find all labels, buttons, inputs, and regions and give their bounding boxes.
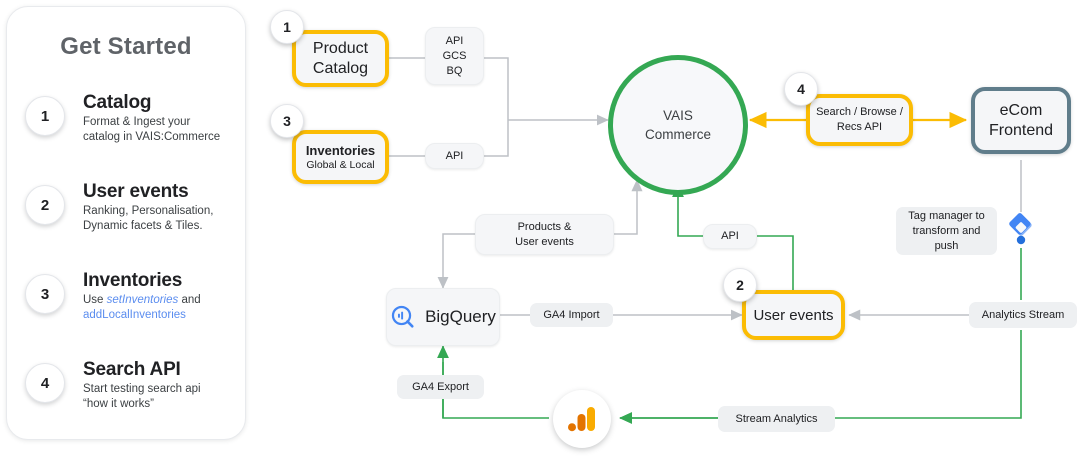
tag-manager-line3: push	[935, 239, 959, 254]
node-inventories-api[interactable]: API	[425, 143, 484, 169]
api-gcs-bq-line1: API	[446, 34, 464, 49]
node-api-gcs-bq[interactable]: API GCS BQ	[425, 27, 484, 85]
pue-line1: Products &	[518, 220, 572, 235]
search-api-line1: Search / Browse /	[816, 105, 903, 120]
tag-manager-line1: Tag manager to	[908, 209, 984, 224]
badge-1-product-catalog: 1	[270, 10, 304, 44]
node-products-user-events[interactable]: Products & User events	[475, 214, 614, 255]
ue-api-label: API	[721, 229, 739, 244]
badge-2-user-events: 2	[723, 268, 757, 302]
node-bigquery[interactable]: BigQuery	[386, 288, 500, 346]
node-user-events[interactable]: User events	[742, 290, 845, 340]
inventories-api-label: API	[446, 149, 464, 164]
node-stream-analytics: Stream Analytics	[718, 406, 835, 432]
badge-3-inventories: 3	[270, 104, 304, 138]
node-product-catalog[interactable]: Product Catalog	[292, 30, 389, 87]
bigquery-label: BigQuery	[425, 307, 496, 327]
node-ecom-frontend[interactable]: eCom Frontend	[971, 87, 1071, 154]
ga4-import-label: GA4 Import	[543, 308, 599, 323]
pue-line2: User events	[515, 235, 574, 250]
api-gcs-bq-line2: GCS	[443, 49, 467, 64]
google-analytics-icon	[553, 390, 611, 448]
ecom-line1: eCom	[1000, 101, 1043, 121]
google-tag-manager-icon	[1003, 212, 1039, 248]
node-search-browse-recs-api[interactable]: Search / Browse / Recs API	[806, 94, 913, 146]
inventories-line2: Global & Local	[306, 159, 374, 172]
product-catalog-line1: Product	[313, 39, 368, 59]
badge-4-search-api: 4	[784, 72, 818, 106]
node-inventories[interactable]: Inventories Global & Local	[292, 130, 389, 184]
tag-manager-line2: transform and	[913, 224, 981, 239]
analytics-stream-label: Analytics Stream	[982, 308, 1065, 323]
node-ga4-export: GA4 Export	[397, 375, 484, 399]
ga4-export-label: GA4 Export	[412, 380, 469, 395]
bigquery-icon	[390, 304, 416, 330]
vais-line1: VAIS	[663, 108, 693, 123]
vais-label: VAIS Commerce	[645, 106, 711, 144]
node-vais-commerce[interactable]: VAIS Commerce	[608, 55, 748, 195]
api-gcs-bq-line3: BQ	[447, 64, 463, 79]
search-api-line2: Recs API	[837, 120, 882, 135]
node-tag-manager-note: Tag manager to transform and push	[896, 207, 997, 255]
stream-analytics-label: Stream Analytics	[736, 412, 818, 427]
diagram-root: Get Started 1 Catalog Format & Ingest yo…	[0, 0, 1082, 458]
node-user-events-api[interactable]: API	[703, 224, 757, 249]
vais-line2: Commerce	[645, 127, 711, 142]
inventories-line1: Inventories	[306, 142, 375, 159]
node-analytics-stream: Analytics Stream	[969, 302, 1077, 328]
node-ga4-import: GA4 Import	[530, 303, 613, 327]
product-catalog-line2: Catalog	[313, 59, 368, 79]
user-events-label: User events	[753, 307, 833, 324]
ecom-line2: Frontend	[989, 121, 1053, 141]
